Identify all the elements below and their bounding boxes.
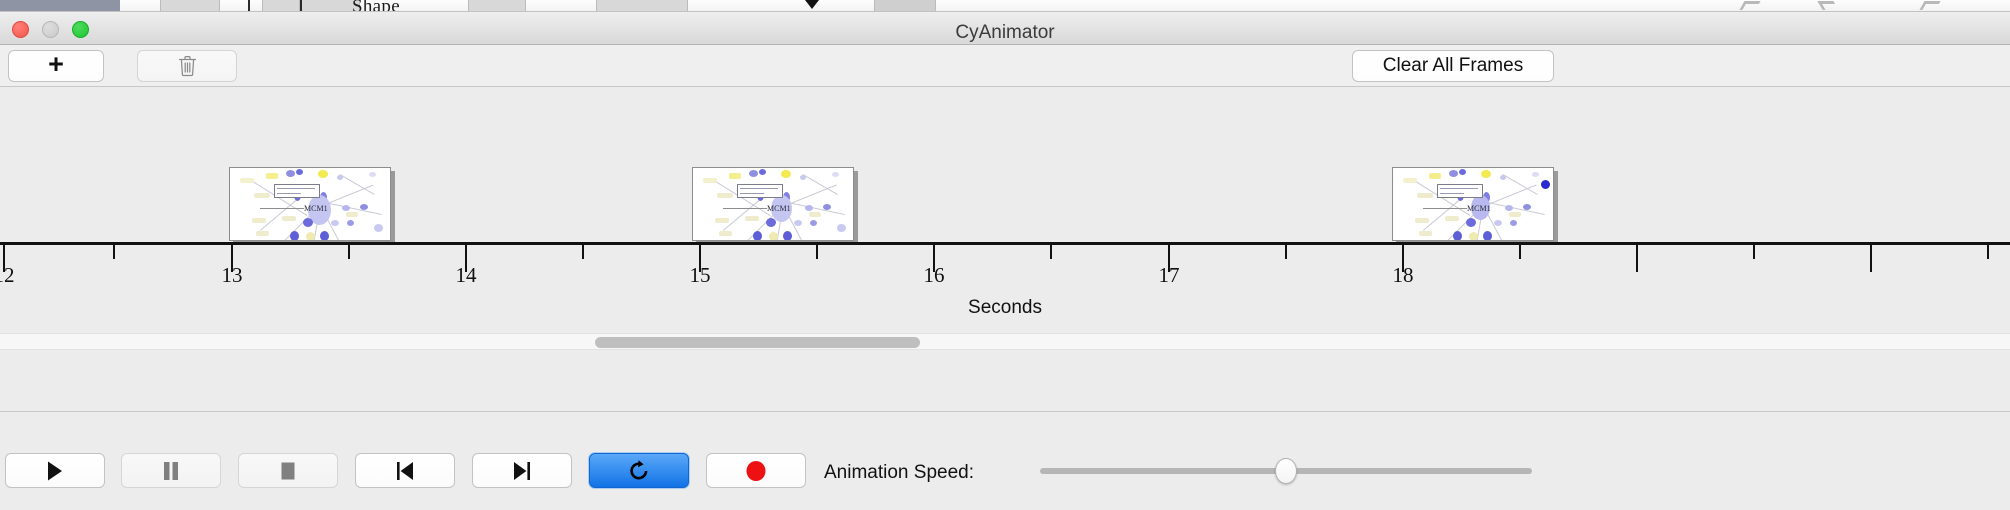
add-frame-button[interactable]: + bbox=[8, 50, 104, 82]
trash-icon bbox=[178, 55, 197, 77]
axis-tick-label: 13 bbox=[191, 263, 273, 288]
network-preview: MCM1 bbox=[229, 167, 391, 241]
animation-speed-label: Animation Speed: bbox=[824, 462, 974, 484]
delete-frame-button[interactable] bbox=[137, 50, 237, 82]
timeline-axis bbox=[0, 242, 2010, 245]
background-window-titlebar bbox=[0, 0, 120, 11]
axis-tick-label: 12 bbox=[0, 263, 45, 288]
animation-speed-slider-thumb[interactable] bbox=[1275, 458, 1297, 484]
background-chevron-icon bbox=[1739, 1, 1760, 10]
axis-tick bbox=[348, 245, 350, 259]
frame-node-label: MCM1 bbox=[304, 204, 328, 213]
axis-tick bbox=[816, 245, 818, 259]
transport-bar: Animation Speed: bbox=[0, 444, 2010, 510]
axis-tick bbox=[1285, 245, 1287, 259]
axis-tick bbox=[1519, 245, 1521, 259]
pause-icon bbox=[162, 460, 180, 482]
axis-tick bbox=[1870, 245, 1872, 272]
axis-tick bbox=[1050, 245, 1052, 259]
clear-all-frames-button[interactable]: Clear All Frames bbox=[1352, 50, 1554, 82]
record-icon bbox=[744, 459, 768, 483]
cyanimator-window: Shape CyAnimator + Clear All Frames bbox=[0, 0, 2010, 510]
axis-tick-label: 18 bbox=[1362, 263, 1444, 288]
frame-node-label: MCM1 bbox=[1467, 204, 1491, 213]
axis-tick bbox=[1636, 245, 1638, 272]
frame-thumbnail-2[interactable]: MCM1 bbox=[692, 167, 858, 245]
axis-tick bbox=[113, 245, 115, 259]
loop-button[interactable] bbox=[589, 453, 689, 488]
record-button[interactable] bbox=[706, 453, 806, 488]
background-window-strip: Shape bbox=[0, 0, 2010, 12]
title-bar: CyAnimator bbox=[0, 12, 2010, 45]
stop-button[interactable] bbox=[238, 453, 338, 488]
frame-thumbnail-1[interactable]: MCM1 bbox=[229, 167, 395, 245]
axis-tick bbox=[1987, 245, 1989, 259]
background-divider bbox=[248, 0, 250, 11]
timeline-scrollbar-thumb[interactable] bbox=[595, 337, 920, 348]
skip-forward-icon bbox=[511, 460, 533, 482]
axis-tick bbox=[582, 245, 584, 259]
axis-tick-label: 16 bbox=[893, 263, 975, 288]
background-chevron-icon bbox=[1817, 1, 1838, 10]
plus-icon: + bbox=[48, 51, 64, 78]
axis-title-seconds: Seconds bbox=[0, 297, 2010, 319]
background-caret-icon bbox=[805, 0, 819, 9]
skip-back-icon bbox=[394, 460, 416, 482]
play-icon bbox=[45, 460, 65, 482]
pause-button[interactable] bbox=[121, 453, 221, 488]
skip-to-end-button[interactable] bbox=[472, 453, 572, 488]
play-button[interactable] bbox=[5, 453, 105, 488]
network-preview: MCM1 bbox=[1392, 167, 1554, 241]
timeline-panel[interactable]: MCM1 bbox=[0, 87, 2010, 412]
timeline-scrollbar[interactable] bbox=[0, 333, 2010, 350]
frame-node-label: MCM1 bbox=[767, 204, 791, 213]
axis-tick-label: 15 bbox=[659, 263, 741, 288]
window-title: CyAnimator bbox=[0, 22, 2010, 44]
axis-tick bbox=[1753, 245, 1755, 259]
loop-icon bbox=[628, 459, 650, 483]
background-chevron-icon bbox=[1919, 1, 1940, 10]
stop-icon bbox=[278, 460, 298, 482]
axis-tick-label: 17 bbox=[1128, 263, 1210, 288]
clear-all-frames-label: Clear All Frames bbox=[1383, 55, 1523, 77]
background-divider bbox=[300, 0, 302, 11]
frame-thumbnail-3[interactable]: MCM1 bbox=[1392, 167, 1558, 245]
skip-to-start-button[interactable] bbox=[355, 453, 455, 488]
axis-tick-label: 14 bbox=[425, 263, 507, 288]
network-preview: MCM1 bbox=[692, 167, 854, 241]
frame-toolbar: + Clear All Frames bbox=[0, 45, 2010, 87]
